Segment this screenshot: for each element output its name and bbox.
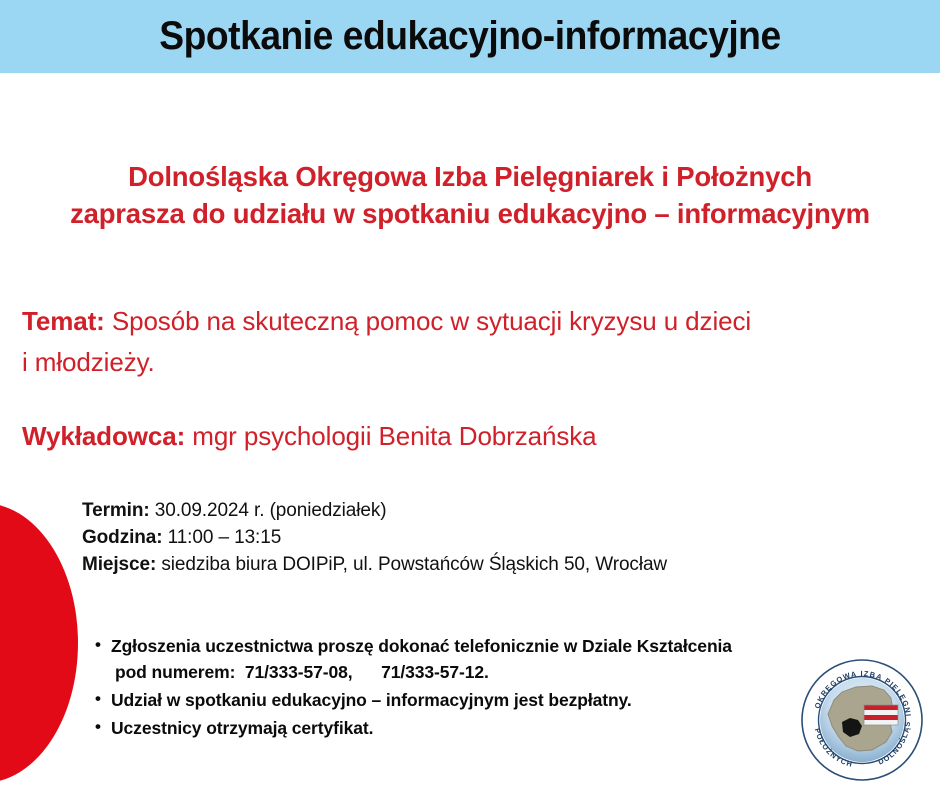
topic-value-line-1: Sposób na skuteczną pomoc w sytuacji kry…: [105, 306, 751, 336]
list-item: Uczestnicy otrzymają certyfikat.: [95, 715, 885, 741]
lecturer-block: Wykładowca: mgr psychologii Benita Dobrz…: [22, 419, 912, 453]
detail-value-godzina: 11:00 – 13:15: [162, 527, 281, 548]
detail-value-termin: 30.09.2024 r. (poniedziałek): [150, 500, 387, 521]
lecturer-value: mgr psychologii Benita Dobrzańska: [185, 421, 596, 451]
list-item: Udział w spotkaniu edukacyjno – informac…: [95, 687, 885, 713]
poster-canvas: Spotkanie edukacyjno-informacyjne Dolnoś…: [0, 0, 940, 788]
logo-flag-bars: [864, 705, 898, 725]
invitation-heading: Dolnośląska Okręgowa Izba Pielęgniarek i…: [0, 158, 940, 232]
lecturer-label: Wykładowca:: [22, 421, 185, 451]
detail-row-miejsce: Miejsce: siedziba biura DOIPiP, ul. Pows…: [82, 551, 882, 578]
note-subline-phones: pod numerem: 71/333-57-08, 71/333-57-12.: [111, 659, 885, 685]
invitation-line-2: zaprasza do udziału w spotkaniu edukacyj…: [0, 195, 940, 232]
note-text: Uczestnicy otrzymają certyfikat.: [111, 718, 373, 738]
decorative-red-circle: [0, 503, 78, 783]
list-item: Zgłoszenia uczestnictwa proszę dokonać t…: [95, 633, 885, 685]
topic-label: Temat:: [22, 306, 105, 336]
detail-row-godzina: Godzina: 11:00 – 13:15: [82, 524, 882, 551]
note-text: Zgłoszenia uczestnictwa proszę dokonać t…: [111, 636, 732, 656]
topic-value-line-2: i młodzieży.: [22, 347, 155, 377]
doipip-seal-logo: OKRĘGOWA IZBA PIELĘGNIAREK I POŁOŻNYCH D…: [798, 656, 926, 784]
invitation-line-1: Dolnośląska Okręgowa Izba Pielęgniarek i…: [0, 158, 940, 195]
detail-row-termin: Termin: 30.09.2024 r. (poniedziałek): [82, 497, 882, 524]
event-details-block: Termin: 30.09.2024 r. (poniedziałek) God…: [82, 497, 882, 578]
topic-block: Temat: Sposób na skuteczną pomoc w sytua…: [22, 301, 912, 383]
detail-label-miejsce: Miejsce:: [82, 554, 156, 575]
note-text: Udział w spotkaniu edukacyjno – informac…: [111, 690, 632, 710]
page-title: Spotkanie edukacyjno-informacyjne: [33, 0, 907, 73]
detail-label-termin: Termin:: [82, 500, 150, 521]
detail-label-godzina: Godzina:: [82, 527, 162, 548]
notes-list: Zgłoszenia uczestnictwa proszę dokonać t…: [95, 633, 885, 743]
detail-value-miejsce: siedziba biura DOIPiP, ul. Powstańców Śl…: [156, 554, 667, 575]
